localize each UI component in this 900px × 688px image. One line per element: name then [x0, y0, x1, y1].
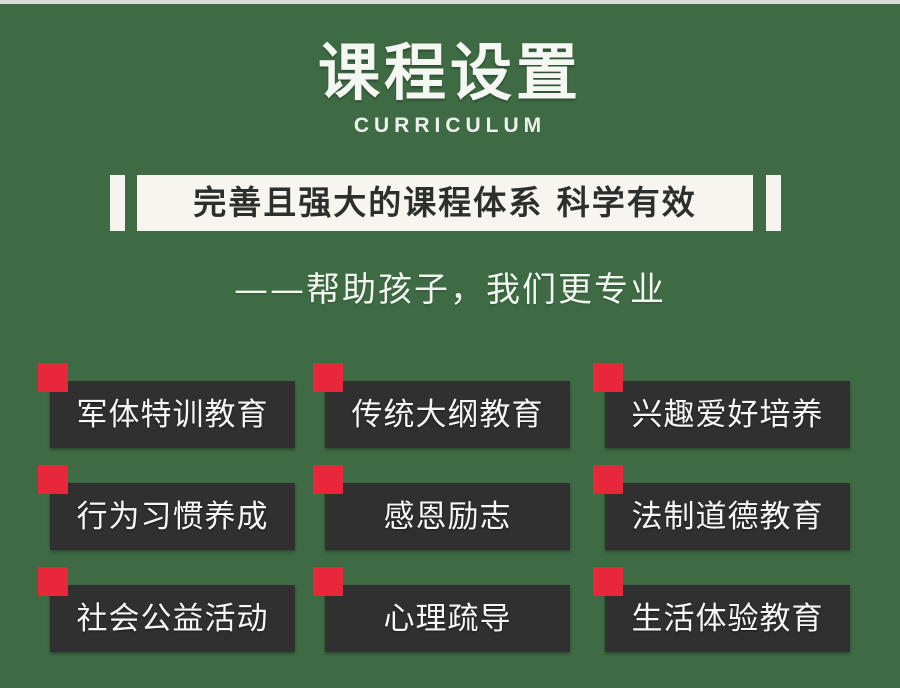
- course-grid: 军体特训教育 传统大纲教育 兴趣爱好培养 行为习惯养成 感恩励志: [50, 381, 855, 653]
- red-square-marker-icon: [313, 567, 343, 596]
- course-card-plate: 法制道德教育: [605, 483, 850, 550]
- course-card-label: 兴趣爱好培养: [632, 395, 824, 435]
- course-card[interactable]: 生活体验教育: [605, 585, 850, 652]
- course-card[interactable]: 军体特训教育: [50, 381, 295, 448]
- red-square-marker-icon: [38, 363, 68, 392]
- red-square-marker-icon: [313, 465, 343, 494]
- course-card[interactable]: 行为习惯养成: [50, 483, 295, 550]
- course-card-label: 生活体验教育: [632, 599, 824, 639]
- banner-tick-right: [766, 175, 781, 231]
- red-square-marker-icon: [593, 567, 623, 596]
- red-square-marker-icon: [593, 363, 623, 392]
- course-card-label: 法制道德教育: [632, 497, 824, 537]
- course-card-label: 传统大纲教育: [352, 395, 544, 435]
- course-card-plate: 心理疏导: [325, 585, 570, 652]
- course-card-plate: 传统大纲教育: [325, 381, 570, 448]
- curriculum-poster: 课程设置 CURRICULUM 完善且强大的课程体系 科学有效 ——帮助孩子，我…: [0, 0, 900, 688]
- page-subtitle: CURRICULUM: [0, 114, 900, 138]
- headline-banner: 完善且强大的课程体系 科学有效: [0, 172, 900, 234]
- red-square-marker-icon: [593, 465, 623, 494]
- top-edge-strip: [0, 0, 900, 4]
- course-card[interactable]: 感恩励志: [325, 483, 570, 550]
- course-card-plate: 生活体验教育: [605, 585, 850, 652]
- tagline: ——帮助孩子，我们更专业: [0, 268, 900, 312]
- banner-tick-left: [110, 175, 125, 231]
- page-title: 课程设置: [0, 36, 900, 110]
- course-card[interactable]: 兴趣爱好培养: [605, 381, 850, 448]
- banner-box: 完善且强大的课程体系 科学有效: [134, 172, 756, 234]
- course-card-plate: 兴趣爱好培养: [605, 381, 850, 448]
- banner-text: 完善且强大的课程体系 科学有效: [193, 183, 697, 223]
- course-card-label: 行为习惯养成: [77, 497, 269, 537]
- course-card[interactable]: 心理疏导: [325, 585, 570, 652]
- course-card-plate: 感恩励志: [325, 483, 570, 550]
- course-card[interactable]: 传统大纲教育: [325, 381, 570, 448]
- red-square-marker-icon: [38, 567, 68, 596]
- course-card-plate: 行为习惯养成: [50, 483, 295, 550]
- red-square-marker-icon: [313, 363, 343, 392]
- course-card-plate: 军体特训教育: [50, 381, 295, 448]
- poster-header: 课程设置 CURRICULUM: [0, 36, 900, 138]
- course-card-label: 军体特训教育: [77, 395, 269, 435]
- course-card-label: 社会公益活动: [77, 599, 269, 639]
- red-square-marker-icon: [38, 465, 68, 494]
- course-card-label: 感恩励志: [384, 497, 512, 537]
- course-card[interactable]: 社会公益活动: [50, 585, 295, 652]
- course-card-plate: 社会公益活动: [50, 585, 295, 652]
- course-card-label: 心理疏导: [384, 599, 512, 639]
- course-card[interactable]: 法制道德教育: [605, 483, 850, 550]
